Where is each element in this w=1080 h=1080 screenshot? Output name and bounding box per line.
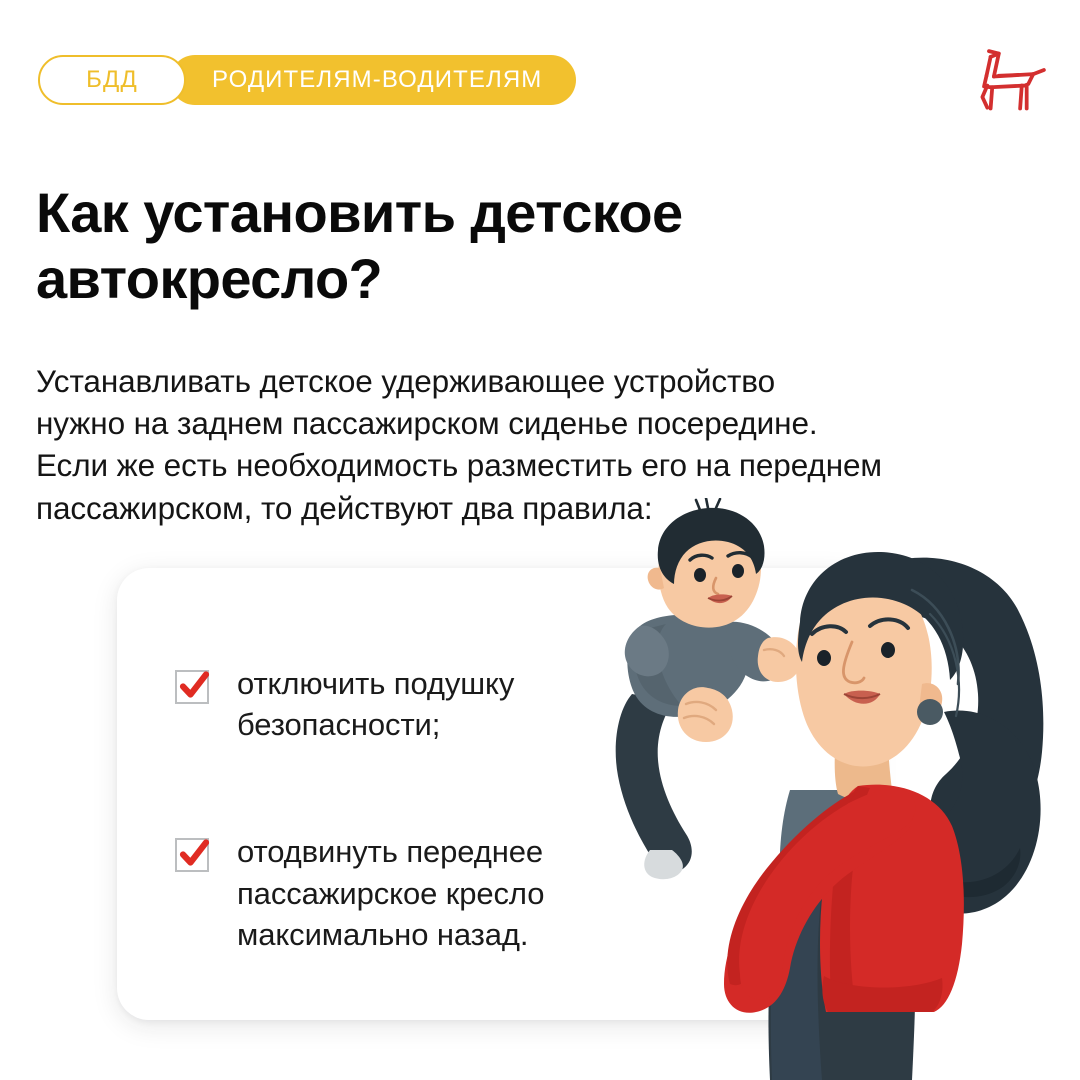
badge-section-parents-drivers[interactable]: РОДИТЕЛЯМ-ВОДИТЕЛЯМ [170,55,576,105]
check-mark-icon [174,834,214,874]
list-item-label: отключить подушку безопасности; [237,663,645,745]
child-eyebrow-left [690,555,712,560]
list-item-label: отодвинуть переднее пассажирское кресло … [237,831,645,955]
mother-hair-strand-2 [930,614,959,716]
mother-ponytail [908,711,1041,914]
lead-line-1: Устанавливать детское удерживающее устро… [36,360,1036,402]
lead-paragraph: Устанавливать детское удерживающее устро… [36,360,1036,529]
horse-logo-icon [966,38,1048,120]
header-badges: БДД РОДИТЕЛЯМ-ВОДИТЕЛЯМ [38,55,576,105]
checkbox-checked-icon[interactable] [175,670,209,704]
rules-checklist: отключить подушку безопасности; отодвину… [175,663,645,955]
mother-hair-back [870,558,1043,849]
check-mark-icon [174,666,214,706]
mother-eyebrow-right [870,619,908,628]
mother-hair-strand-1 [912,590,959,684]
badge-bdd[interactable]: БДД [38,55,186,105]
mother-eye-right [881,642,895,658]
page-title: Как установить детское автокресло? [36,180,796,312]
mother-ear [918,683,942,718]
list-item[interactable]: отключить подушку безопасности; [175,663,645,745]
child-eyebrow-right [728,553,752,557]
horse-logo-svg [966,38,1048,120]
poster-root: БДД РОДИТЕЛЯМ-ВОДИТЕЛЯМ [0,0,1080,1080]
checkbox-checked-icon[interactable] [175,838,209,872]
lead-line-4: пассажирском, то действуют два правила: [36,487,1036,529]
mother-ponytail-curl [918,848,1020,897]
mother-earring [917,699,943,725]
lead-line-2: нужно на заднем пассажирском сиденье пос… [36,402,1036,444]
list-item[interactable]: отодвинуть переднее пассажирское кресло … [175,831,645,955]
lead-line-3: Если же есть необходимость разместить ег… [36,444,1036,486]
